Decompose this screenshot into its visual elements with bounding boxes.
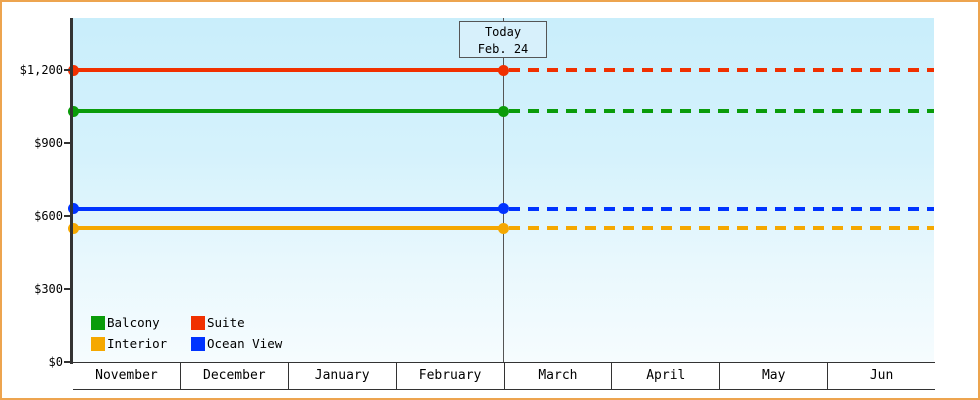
legend-row: Interior Ocean View xyxy=(91,333,321,354)
y-axis-label: $300 xyxy=(34,283,63,295)
series-marker-today-balcony[interactable] xyxy=(498,106,509,117)
legend-label-suite: Suite xyxy=(207,315,245,330)
series-line-historical-interior xyxy=(73,226,503,230)
legend-row: Balcony Suite xyxy=(91,312,321,333)
legend-swatch-interior xyxy=(91,337,105,351)
y-axis-tick xyxy=(64,142,73,144)
legend-label-interior: Interior xyxy=(107,336,167,351)
series-line-historical-ocean-view xyxy=(73,207,503,211)
y-axis-label: $1,200 xyxy=(20,64,63,76)
series-line-forecast-balcony xyxy=(509,109,934,113)
x-axis-month-cell[interactable]: April xyxy=(612,363,720,389)
x-axis-month-cell[interactable]: January xyxy=(289,363,397,389)
legend-item-ocean-view[interactable]: Ocean View xyxy=(191,336,282,351)
series-marker-today-interior[interactable] xyxy=(498,223,509,234)
y-axis-tick xyxy=(64,361,73,363)
legend-item-interior[interactable]: Interior xyxy=(91,336,191,351)
legend-item-balcony[interactable]: Balcony xyxy=(91,315,191,330)
x-axis-month-strip: NovemberDecemberJanuaryFebruaryMarchApri… xyxy=(73,362,935,390)
x-axis-month-cell[interactable]: November xyxy=(73,363,181,389)
legend-label-balcony: Balcony xyxy=(107,315,160,330)
y-axis-label: $600 xyxy=(34,210,63,222)
x-axis-month-cell[interactable]: February xyxy=(397,363,505,389)
chart-frame: Today Feb. 24 Balcony Suite Interior xyxy=(0,0,980,400)
legend-swatch-ocean-view xyxy=(191,337,205,351)
series-marker-today-suite[interactable] xyxy=(498,65,509,76)
legend-swatch-suite xyxy=(191,316,205,330)
legend-swatch-balcony xyxy=(91,316,105,330)
today-label-line2: Feb. 24 xyxy=(460,41,546,58)
today-annotation-box: Today Feb. 24 xyxy=(459,21,547,58)
x-axis-month-cell[interactable]: March xyxy=(505,363,613,389)
y-axis-tick xyxy=(64,69,73,71)
x-axis-month-cell[interactable]: Jun xyxy=(828,363,935,389)
legend-item-suite[interactable]: Suite xyxy=(191,315,245,330)
series-line-historical-suite xyxy=(73,68,503,72)
legend-label-ocean-view: Ocean View xyxy=(207,336,282,351)
series-line-forecast-ocean-view xyxy=(509,207,934,211)
series-line-forecast-interior xyxy=(509,226,934,230)
series-marker-today-ocean-view[interactable] xyxy=(498,203,509,214)
x-axis-month-cell[interactable]: May xyxy=(720,363,828,389)
chart-legend: Balcony Suite Interior Ocean View xyxy=(91,312,321,354)
plot-area: Today Feb. 24 Balcony Suite Interior xyxy=(73,18,934,362)
series-line-forecast-suite xyxy=(509,68,934,72)
y-axis-tick xyxy=(64,288,73,290)
y-axis-label: $0 xyxy=(49,356,63,368)
y-axis-label: $900 xyxy=(34,137,63,149)
series-line-historical-balcony xyxy=(73,109,503,113)
x-axis-month-cell[interactable]: December xyxy=(181,363,289,389)
today-label-line1: Today xyxy=(460,24,546,41)
y-axis-tick xyxy=(64,215,73,217)
